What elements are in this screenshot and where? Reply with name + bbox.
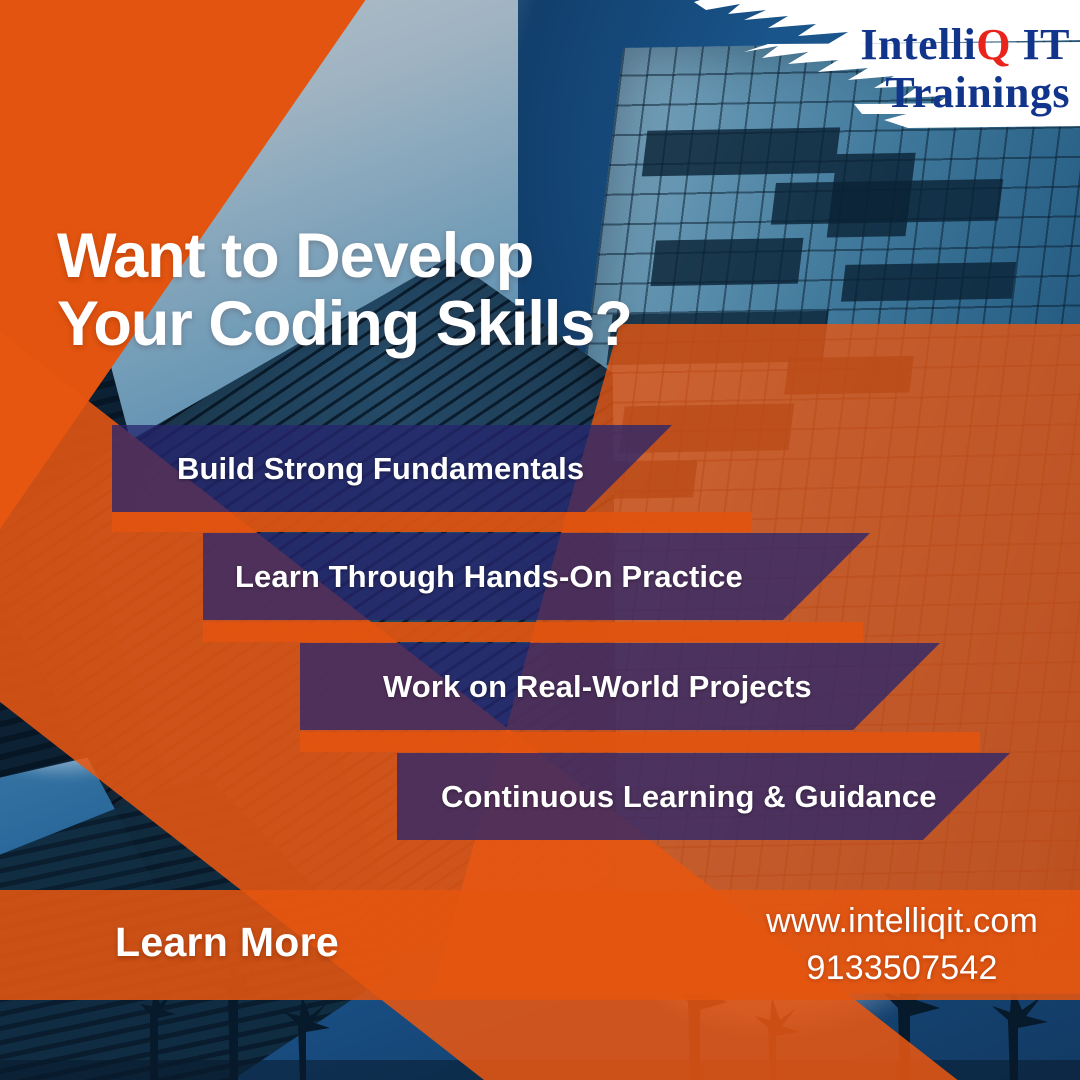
- contact-info: www.intelliqit.com 9133507542: [766, 898, 1038, 992]
- feature-bar-label: Continuous Learning & Guidance: [441, 779, 937, 815]
- feature-bar-label: Work on Real-World Projects: [383, 669, 812, 705]
- feature-bar: Work on Real-World Projects: [300, 643, 940, 730]
- website-link[interactable]: www.intelliqit.com: [766, 898, 1038, 945]
- feature-bar-label: Learn Through Hands-On Practice: [235, 559, 743, 595]
- phone-number[interactable]: 9133507542: [766, 945, 1038, 992]
- feature-bar: Continuous Learning & Guidance: [397, 753, 1010, 840]
- feature-bar: Learn Through Hands-On Practice: [203, 533, 870, 620]
- feature-bar: Build Strong Fundamentals: [112, 425, 672, 512]
- learn-more-cta[interactable]: Learn More: [115, 919, 339, 966]
- feature-bar-label: Build Strong Fundamentals: [177, 451, 584, 487]
- poster-canvas: IntelliQ IT Trainings Want to Develop Yo…: [0, 0, 1080, 1080]
